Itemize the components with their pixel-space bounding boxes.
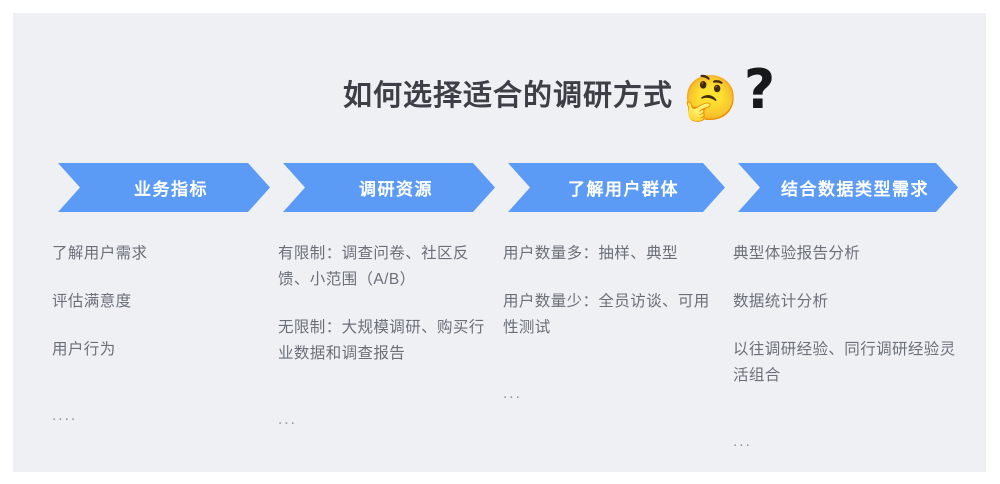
slide-canvas: 如何选择适合的调研方式 🤔 ? 业务指标 调研资源 了解用户群体 结合数据类型需… — [0, 0, 1000, 484]
list-item-ellipsis: .... — [52, 403, 264, 429]
list-item: 有限制：调查问卷、社区反馈、小范围（A/B） — [278, 241, 488, 293]
list-item: 评估满意度 — [52, 289, 264, 315]
spacer — [733, 411, 963, 429]
spacer — [52, 385, 264, 403]
list-item: 用户数量多：抽样、典型 — [503, 241, 718, 267]
title-group: 如何选择适合的调研方式 🤔 ? — [343, 61, 775, 131]
spacer — [278, 389, 488, 407]
step-banner-understand-users[interactable]: 了解用户群体 — [508, 163, 725, 212]
list-item-ellipsis: ... — [278, 407, 488, 433]
step-column-research-resources: 有限制：调查问卷、社区反馈、小范围（A/B） 无限制：大规模调研、购买行业数据和… — [278, 241, 488, 433]
step-column-understand-users: 用户数量多：抽样、典型 用户数量少：全员访谈、可用性测试 ... — [503, 241, 718, 407]
step-banner-business-metrics[interactable]: 业务指标 — [58, 163, 270, 212]
list-item: 典型体验报告分析 — [733, 241, 963, 267]
step-banner-label: 调研资源 — [345, 175, 433, 200]
page-title: 如何选择适合的调研方式 — [343, 82, 673, 111]
step-banner-research-resources[interactable]: 调研资源 — [283, 163, 495, 212]
step-column-data-type-needs: 典型体验报告分析 数据统计分析 以往调研经验、同行调研经验灵活组合 ... — [733, 241, 963, 455]
list-item: 数据统计分析 — [733, 289, 963, 315]
list-item: 以往调研经验、同行调研经验灵活组合 — [733, 337, 963, 389]
list-item-ellipsis: ... — [733, 429, 963, 455]
step-banner-label: 了解用户群体 — [554, 175, 679, 200]
list-item: 用户数量少：全员访谈、可用性测试 — [503, 289, 718, 341]
spacer — [503, 363, 718, 381]
question-mark-icon: ? — [744, 63, 775, 117]
thinking-face-emoji: 🤔 — [683, 77, 738, 121]
list-item-ellipsis: ... — [503, 381, 718, 407]
title-row: 如何选择适合的调研方式 🤔 ? — [13, 61, 986, 131]
step-banner-label: 结合数据类型需求 — [767, 175, 929, 200]
step-banner-label: 业务指标 — [120, 175, 208, 200]
slide-panel: 如何选择适合的调研方式 🤔 ? 业务指标 调研资源 了解用户群体 结合数据类型需… — [13, 13, 986, 472]
step-column-business-metrics: 了解用户需求 评估满意度 用户行为 .... — [52, 241, 264, 429]
list-item: 了解用户需求 — [52, 241, 264, 267]
list-item: 用户行为 — [52, 337, 264, 363]
list-item: 无限制：大规模调研、购买行业数据和调查报告 — [278, 315, 488, 367]
step-banner-data-type-needs[interactable]: 结合数据类型需求 — [738, 163, 958, 212]
